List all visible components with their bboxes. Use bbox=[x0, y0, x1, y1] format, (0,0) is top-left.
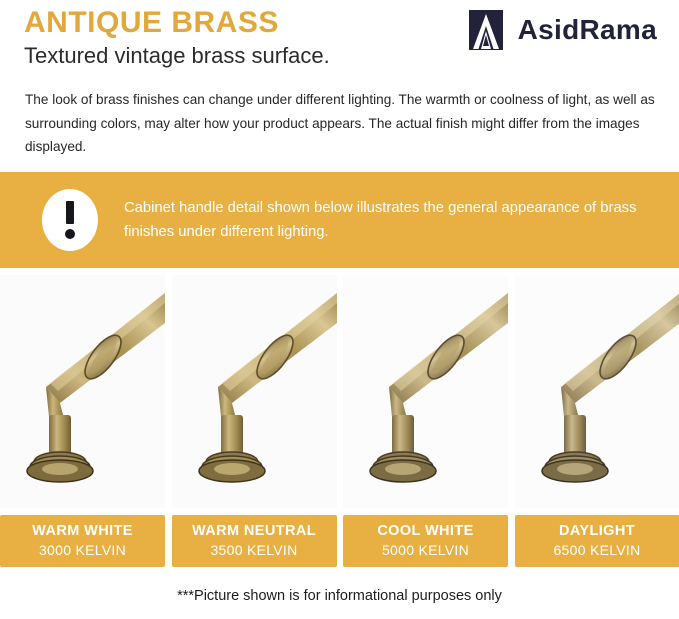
swatch-kelvin: 3000 KELVIN bbox=[39, 541, 126, 560]
swatch-label: COOL WHITE 5000 KELVIN bbox=[343, 515, 508, 567]
swatch-kelvin: 5000 KELVIN bbox=[382, 541, 469, 560]
swatch-label: WARM WHITE 3000 KELVIN bbox=[0, 515, 165, 567]
swatch-kelvin: 3500 KELVIN bbox=[210, 541, 297, 560]
footer-disclaimer: ***Picture shown is for informational pu… bbox=[0, 588, 679, 604]
title-block: ANTIQUE BRASS Textured vintage brass sur… bbox=[24, 6, 424, 71]
swatch-name: WARM NEUTRAL bbox=[192, 522, 316, 541]
intro-paragraph: The look of brass finishes can change un… bbox=[25, 88, 659, 159]
swatch-item: DAYLIGHT 6500 KELVIN bbox=[515, 272, 679, 569]
cabinet-handle-photo bbox=[0, 275, 165, 508]
exclamation-glyph bbox=[66, 201, 74, 239]
swatch-kelvin: 6500 KELVIN bbox=[553, 541, 640, 560]
notice-banner: Cabinet handle detail shown below illust… bbox=[0, 172, 679, 268]
antique-brass-info-card: ANTIQUE BRASS Textured vintage brass sur… bbox=[0, 0, 679, 619]
notice-text: Cabinet handle detail shown below illust… bbox=[124, 196, 644, 244]
swatch-label: DAYLIGHT 6500 KELVIN bbox=[515, 515, 679, 567]
swatch-name: DAYLIGHT bbox=[559, 522, 635, 541]
swatch-label: WARM NEUTRAL 3500 KELVIN bbox=[172, 515, 337, 567]
asidrama-a-logo-icon bbox=[465, 9, 507, 51]
swatch-name: WARM WHITE bbox=[32, 522, 133, 541]
page-subtitle: Textured vintage brass surface. bbox=[24, 41, 424, 71]
cabinet-handle-photo bbox=[172, 275, 337, 508]
swatch-item: WARM NEUTRAL 3500 KELVIN bbox=[172, 272, 337, 569]
swatch-item: WARM WHITE 3000 KELVIN bbox=[0, 272, 165, 569]
exclamation-mark-icon bbox=[42, 189, 98, 251]
cabinet-handle-photo bbox=[343, 275, 508, 508]
swatch-item: COOL WHITE 5000 KELVIN bbox=[343, 272, 508, 569]
page-title: ANTIQUE BRASS bbox=[24, 6, 424, 40]
brand-name: AsidRama bbox=[518, 15, 657, 45]
cabinet-handle-photo bbox=[515, 275, 679, 508]
lighting-swatch-strip: WARM WHITE 3000 KELVIN bbox=[0, 272, 679, 569]
header: ANTIQUE BRASS Textured vintage brass sur… bbox=[0, 0, 679, 168]
brand-lockup: AsidRama bbox=[465, 9, 657, 51]
swatch-name: COOL WHITE bbox=[377, 522, 473, 541]
